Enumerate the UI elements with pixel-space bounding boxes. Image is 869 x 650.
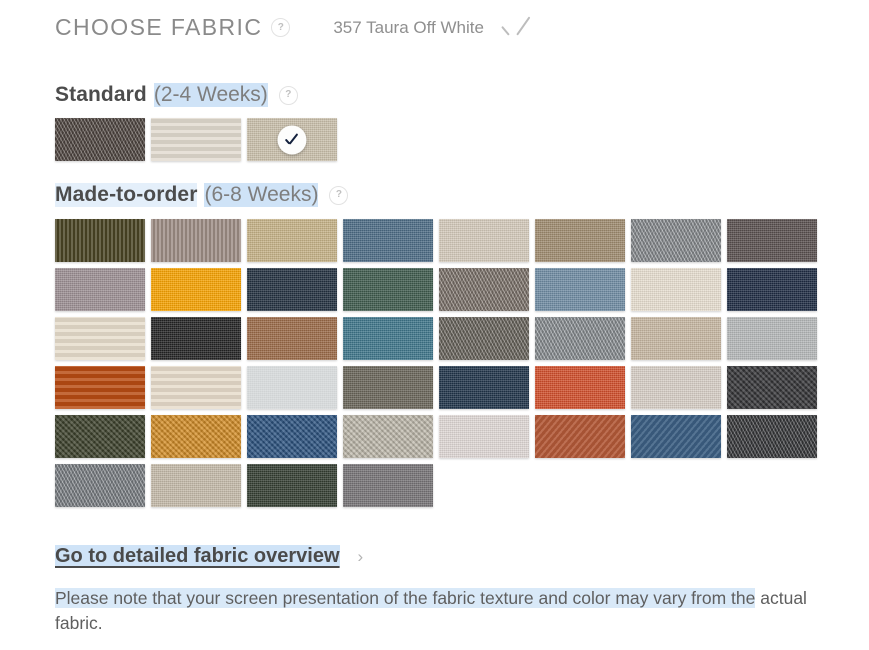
fabric-texture-overlay: [55, 118, 145, 161]
fabric-texture-overlay: [631, 415, 721, 458]
fabric-swatch[interactable]: [151, 366, 241, 409]
fabric-texture-overlay: [631, 366, 721, 409]
fabric-texture-overlay: [439, 317, 529, 360]
fabric-texture-overlay: [55, 219, 145, 262]
fabric-swatch[interactable]: [343, 464, 433, 507]
fabric-texture-overlay: [151, 118, 241, 161]
selected-fabric-label: 357 Taura Off White: [333, 18, 484, 38]
fabric-texture-overlay: [535, 415, 625, 458]
chevron-right-icon: ›: [358, 548, 364, 565]
fabric-swatch[interactable]: [727, 366, 817, 409]
fabric-swatch[interactable]: [247, 118, 337, 161]
fabric-texture-overlay: [343, 219, 433, 262]
group-header-made-to-order: Made-to-order (6-8 Weeks) ?: [55, 183, 348, 207]
choose-fabric-panel: CHOOSE FABRIC ? 357 Taura Off White Stan…: [0, 0, 869, 650]
fabric-swatch[interactable]: [151, 317, 241, 360]
group-header-standard: Standard (2-4 Weeks) ?: [55, 83, 298, 107]
fabric-swatch[interactable]: [631, 317, 721, 360]
fabric-texture-overlay: [631, 317, 721, 360]
fabric-texture-overlay: [631, 219, 721, 262]
fabric-texture-overlay: [55, 366, 145, 409]
fabric-swatch[interactable]: [535, 366, 625, 409]
fabric-texture-overlay: [727, 268, 817, 311]
fabric-texture-overlay: [151, 366, 241, 409]
page-title: CHOOSE FABRIC: [55, 14, 262, 41]
fabric-texture-overlay: [535, 219, 625, 262]
fabric-swatch[interactable]: [343, 219, 433, 262]
check-icon: [502, 15, 528, 41]
fabric-swatch[interactable]: [439, 366, 529, 409]
fabric-texture-overlay: [439, 415, 529, 458]
fabric-swatch[interactable]: [439, 415, 529, 458]
selected-check-badge-icon: [278, 125, 307, 154]
fabric-swatch[interactable]: [55, 366, 145, 409]
fabric-texture-overlay: [439, 268, 529, 311]
question-mark-icon[interactable]: ?: [279, 86, 298, 105]
group-lead-time: (2-4 Weeks): [154, 83, 268, 107]
fabric-texture-overlay: [727, 366, 817, 409]
fabric-texture-overlay: [535, 317, 625, 360]
fabric-texture-overlay: [247, 268, 337, 311]
fabric-texture-overlay: [343, 415, 433, 458]
group-name: Made-to-order: [55, 183, 197, 207]
fabric-texture-overlay: [151, 268, 241, 311]
fabric-swatch[interactable]: [343, 415, 433, 458]
fabric-swatch[interactable]: [727, 268, 817, 311]
fabric-texture-overlay: [727, 317, 817, 360]
fabric-disclaimer-note: Please note that your screen presentatio…: [55, 586, 830, 636]
fabric-swatch[interactable]: [247, 219, 337, 262]
fabric-texture-overlay: [151, 415, 241, 458]
fabric-texture-overlay: [439, 366, 529, 409]
fabric-swatch[interactable]: [535, 219, 625, 262]
swatch-grid-standard: [55, 118, 817, 161]
fabric-swatch[interactable]: [343, 317, 433, 360]
swatch-grid-made-to-order: [55, 219, 817, 507]
fabric-swatch[interactable]: [151, 118, 241, 161]
fabric-swatch[interactable]: [535, 415, 625, 458]
fabric-swatch[interactable]: [631, 366, 721, 409]
fabric-swatch[interactable]: [343, 268, 433, 311]
fabric-texture-overlay: [343, 366, 433, 409]
fabric-swatch[interactable]: [631, 415, 721, 458]
fabric-swatch[interactable]: [727, 317, 817, 360]
fabric-texture-overlay: [727, 219, 817, 262]
fabric-swatch[interactable]: [343, 366, 433, 409]
fabric-swatch[interactable]: [247, 464, 337, 507]
fabric-swatch[interactable]: [535, 317, 625, 360]
fabric-swatch[interactable]: [55, 464, 145, 507]
fabric-texture-overlay: [151, 219, 241, 262]
fabric-texture-overlay: [727, 415, 817, 458]
fabric-texture-overlay: [535, 268, 625, 311]
fabric-swatch[interactable]: [727, 219, 817, 262]
fabric-swatch[interactable]: [55, 415, 145, 458]
detailed-fabric-overview-link[interactable]: Go to detailed fabric overview ›: [55, 545, 363, 568]
fabric-texture-overlay: [247, 317, 337, 360]
fabric-texture-overlay: [247, 219, 337, 262]
fabric-swatch[interactable]: [439, 317, 529, 360]
fabric-texture-overlay: [343, 464, 433, 507]
fabric-texture-overlay: [343, 268, 433, 311]
fabric-swatch[interactable]: [631, 219, 721, 262]
fabric-swatch[interactable]: [439, 268, 529, 311]
fabric-header: CHOOSE FABRIC ? 357 Taura Off White: [55, 14, 528, 41]
fabric-texture-overlay: [55, 464, 145, 507]
fabric-swatch[interactable]: [151, 415, 241, 458]
fabric-texture-overlay: [631, 268, 721, 311]
fabric-texture-overlay: [247, 464, 337, 507]
fabric-swatch[interactable]: [727, 415, 817, 458]
fabric-swatch[interactable]: [247, 268, 337, 311]
fabric-texture-overlay: [55, 268, 145, 311]
question-mark-icon[interactable]: ?: [329, 186, 348, 205]
fabric-swatch[interactable]: [55, 268, 145, 311]
fabric-swatch[interactable]: [55, 118, 145, 161]
overview-link-label: Go to detailed fabric overview: [55, 545, 340, 568]
fabric-swatch[interactable]: [151, 464, 241, 507]
fabric-texture-overlay: [439, 219, 529, 262]
fabric-texture-overlay: [55, 317, 145, 360]
fabric-swatch[interactable]: [247, 317, 337, 360]
question-mark-icon[interactable]: ?: [271, 18, 290, 37]
fabric-swatch[interactable]: [151, 219, 241, 262]
fabric-swatch[interactable]: [631, 268, 721, 311]
fabric-texture-overlay: [55, 415, 145, 458]
group-name: Standard: [55, 83, 147, 107]
note-line-highlighted: Please note that your screen presentatio…: [55, 588, 755, 608]
fabric-texture-overlay: [151, 464, 241, 507]
fabric-swatch[interactable]: [247, 366, 337, 409]
group-lead-time: (6-8 Weeks): [204, 183, 318, 207]
fabric-swatch[interactable]: [151, 268, 241, 311]
fabric-texture-overlay: [343, 317, 433, 360]
fabric-texture-overlay: [535, 366, 625, 409]
fabric-swatch[interactable]: [55, 219, 145, 262]
fabric-swatch[interactable]: [439, 219, 529, 262]
fabric-swatch[interactable]: [247, 415, 337, 458]
fabric-swatch[interactable]: [535, 268, 625, 311]
fabric-texture-overlay: [247, 366, 337, 409]
fabric-swatch[interactable]: [55, 317, 145, 360]
fabric-texture-overlay: [151, 317, 241, 360]
fabric-texture-overlay: [247, 415, 337, 458]
